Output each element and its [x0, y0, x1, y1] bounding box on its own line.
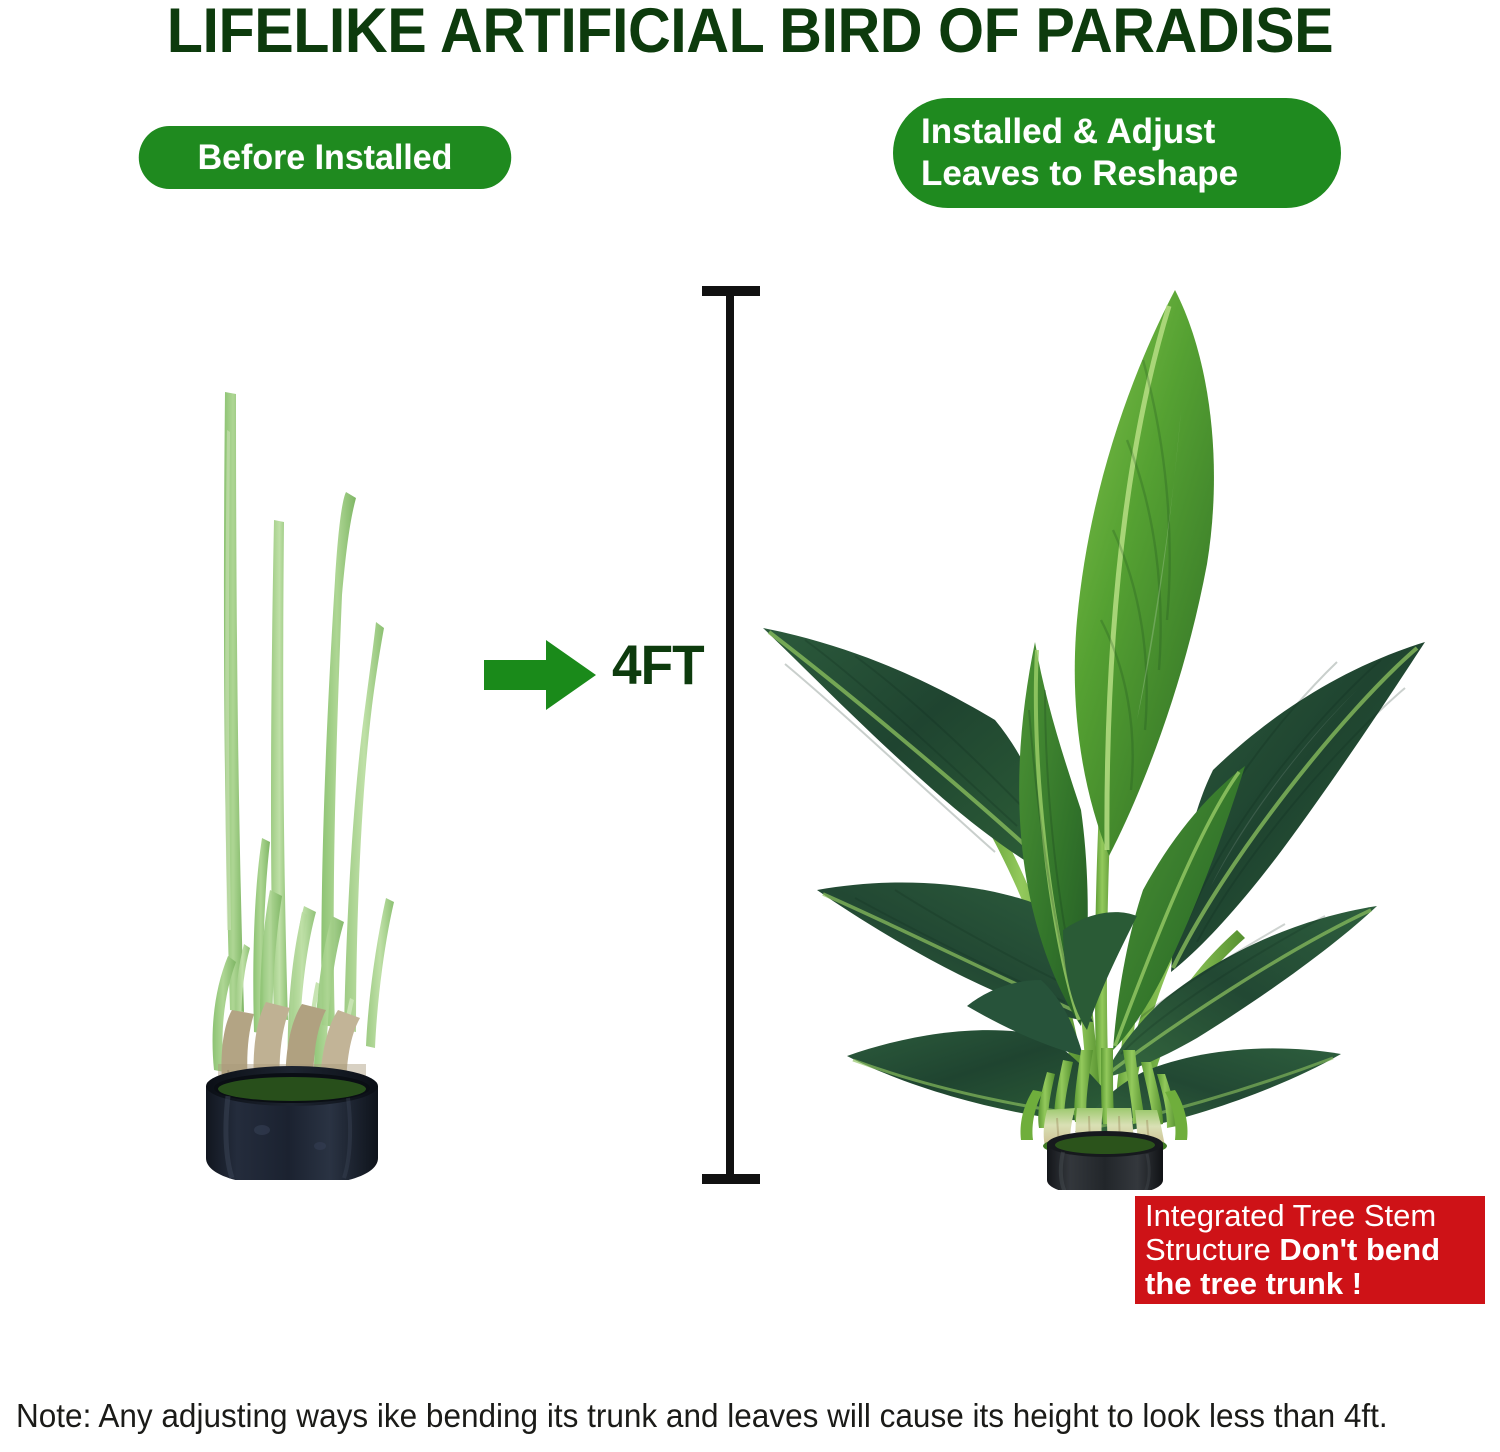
- label-before-installed: Before Installed: [139, 126, 511, 189]
- label-before-installed-text: Before Installed: [198, 138, 453, 178]
- label-installed-adjust: Installed & Adjust Leaves to Reshape: [893, 98, 1341, 208]
- leaf-center-top: [1075, 290, 1214, 856]
- product-image-installed: [745, 290, 1445, 1190]
- footer-note: Note: Any adjusting ways ike bending its…: [16, 1396, 1420, 1436]
- warning-banner: Integrated Tree Stem Structure Don't ben…: [1135, 1196, 1485, 1304]
- plant-after-leaves: [763, 290, 1425, 1133]
- arrow-right-icon: [484, 640, 596, 710]
- plant-before-stems: [213, 392, 394, 1078]
- leaf-upper-left: [763, 628, 1063, 882]
- measure-vertical-line: [726, 292, 734, 1178]
- plant-after-pot: [1047, 1131, 1163, 1190]
- product-image-before-installed: [170, 370, 450, 1180]
- infographic-canvas: LIFELIKE ARTIFICIAL BIRD OF PARADISE Bef…: [0, 0, 1500, 1452]
- page-title: LIFELIKE ARTIFICIAL BIRD OF PARADISE: [45, 0, 1455, 66]
- plant-before-pot: [206, 1066, 378, 1180]
- label-installed-adjust-text: Installed & Adjust Leaves to Reshape: [921, 111, 1238, 195]
- warning-text: Integrated Tree Stem Structure Don't ben…: [1145, 1199, 1477, 1301]
- height-label: 4FT: [612, 635, 704, 695]
